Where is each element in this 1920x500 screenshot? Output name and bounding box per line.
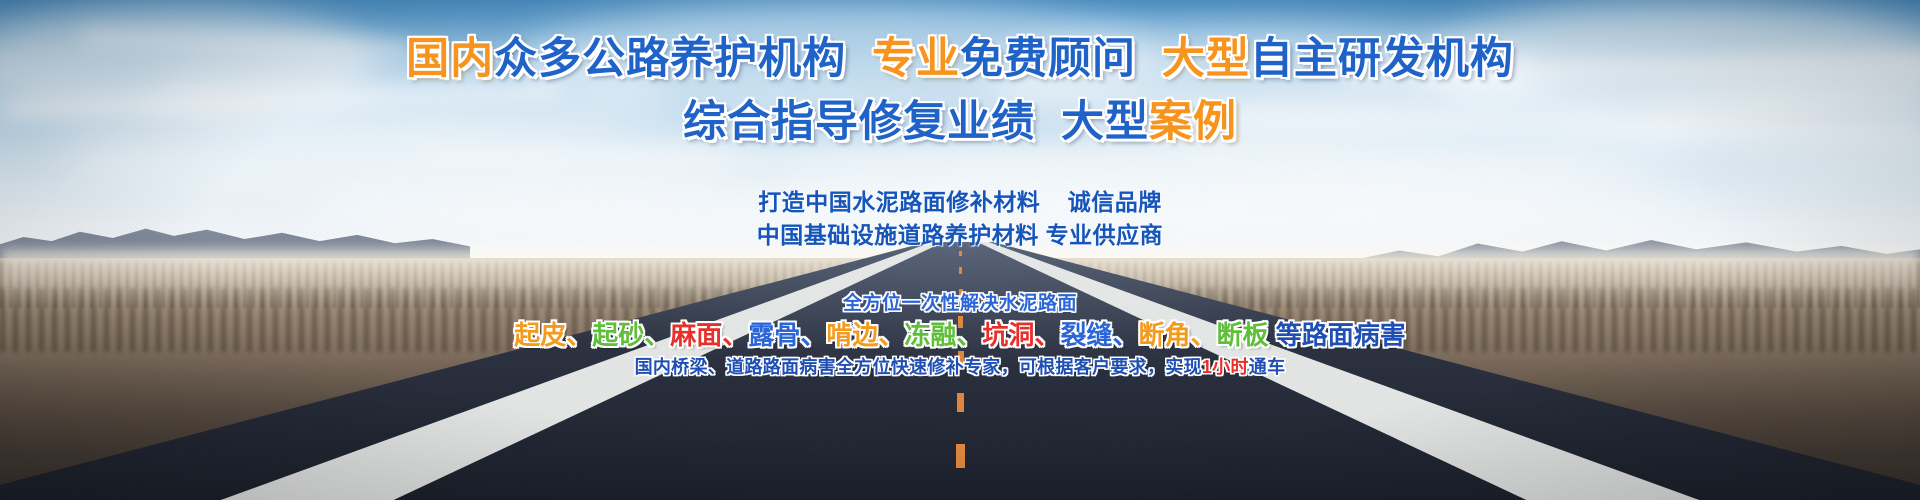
headline2-seg-1 <box>1035 99 1061 146</box>
headline1-seg-7: 自主研发机构 <box>1250 36 1514 83</box>
headline1-seg-5 <box>1136 36 1162 83</box>
defect-term-5: 、 <box>722 320 748 350</box>
headline2-seg-0: 综合指导修复业绩 <box>683 99 1035 146</box>
banner-content: 国内众多公路养护机构 专业免费顾问 大型自主研发机构 综合指导修复业绩 大型案例… <box>0 0 1920 500</box>
defect-term-13: 、 <box>1034 320 1060 350</box>
subheadline-line-2: 中国基础设施道路养护材料 专业供应商 <box>0 219 1920 252</box>
defect-term-6: 露骨 <box>748 320 800 350</box>
headline-line-2: 综合指导修复业绩 大型案例 <box>0 99 1920 146</box>
defect-term-4: 麻面 <box>670 320 722 350</box>
headline1-seg-4: 免费顾问 <box>960 36 1136 83</box>
headline1-seg-0: 国内 <box>406 36 494 83</box>
defect-term-11: 、 <box>956 320 982 350</box>
defect-term-18: 断板 <box>1217 320 1269 350</box>
defect-term-7: 、 <box>800 320 826 350</box>
headline1-seg-1: 众多公路养护机构 <box>494 36 846 83</box>
defect-term-16: 断角 <box>1138 320 1190 350</box>
defect-term-12: 坑洞 <box>982 320 1034 350</box>
subheadline-block: 打造中国水泥路面修补材料 诚信品牌 中国基础设施道路养护材料 专业供应商 <box>0 186 1920 253</box>
defect-term-3: 、 <box>644 320 670 350</box>
subheadline-line-1: 打造中国水泥路面修补材料 诚信品牌 <box>0 186 1920 219</box>
bottom-line-1: 全方位一次性解决水泥路面 <box>0 291 1920 317</box>
defect-term-0: 起皮 <box>514 320 566 350</box>
headline1-seg-6: 大型 <box>1162 36 1250 83</box>
bottom-claims-block: 全方位一次性解决水泥路面 起皮、起砂、麻面、露骨、啃边、冻融、坑洞、裂缝、断角、… <box>0 291 1920 381</box>
defect-term-20: 等路面病害 <box>1276 320 1406 350</box>
promise-seg-1: 1小时 <box>1202 357 1249 377</box>
bottom-line-2-defects: 起皮、起砂、麻面、露骨、啃边、冻融、坑洞、裂缝、断角、断板 等路面病害 <box>0 319 1920 353</box>
headline2-seg-3: 案例 <box>1149 99 1237 146</box>
defect-term-9: 、 <box>878 320 904 350</box>
hero-banner: 国内众多公路养护机构 专业免费顾问 大型自主研发机构 综合指导修复业绩 大型案例… <box>0 0 1920 500</box>
defect-term-14: 裂缝 <box>1060 320 1112 350</box>
defect-term-8: 啃边 <box>826 320 878 350</box>
promise-seg-2: 通车 <box>1249 357 1286 377</box>
defect-term-10: 冻融 <box>904 320 956 350</box>
defect-term-19 <box>1269 320 1276 350</box>
defect-term-17: 、 <box>1190 320 1216 350</box>
defect-term-15: 、 <box>1112 320 1138 350</box>
bottom-line-3-promise: 国内桥梁、道路路面病害全方位快速修补专家，可根据客户要求，实现1小时通车 <box>0 355 1920 380</box>
headline1-seg-3: 专业 <box>872 36 960 83</box>
defect-term-1: 、 <box>566 320 592 350</box>
defect-term-2: 起砂 <box>592 320 644 350</box>
headline1-seg-2 <box>846 36 872 83</box>
promise-seg-0: 国内桥梁、道路路面病害全方位快速修补专家，可根据客户要求，实现 <box>635 357 1202 377</box>
headline-line-1: 国内众多公路养护机构 专业免费顾问 大型自主研发机构 <box>0 36 1920 83</box>
headline2-seg-2: 大型 <box>1061 99 1149 146</box>
